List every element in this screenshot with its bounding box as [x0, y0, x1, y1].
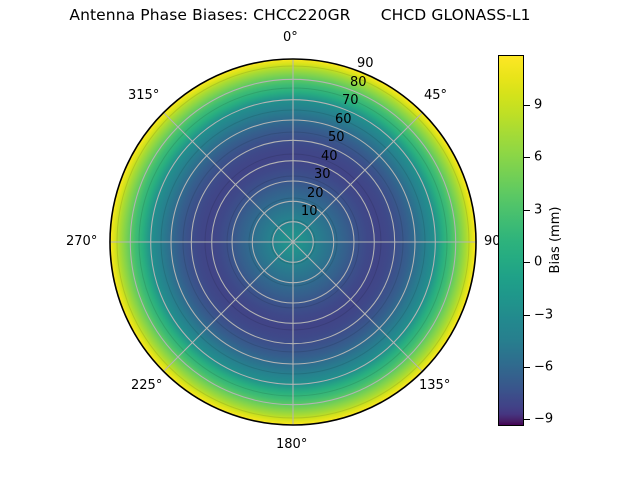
radial-label-80: 80	[350, 75, 367, 90]
radial-label-90: 90	[357, 56, 374, 71]
colorbar-axis-label: Bias (mm)	[548, 207, 563, 274]
angle-label-135: 135°	[419, 378, 450, 393]
colorbar-ticklabel-3: 3	[534, 203, 542, 218]
colorbar-tick-6	[524, 157, 530, 158]
colorbar-gradient	[498, 55, 524, 426]
figure-canvas: Antenna Phase Biases: CHCC220GR CHCD GLO…	[0, 0, 640, 480]
angle-label-45: 45°	[424, 88, 447, 103]
angle-label-315: 315°	[128, 88, 159, 103]
radial-label-10: 10	[301, 204, 318, 219]
colorbar-tick-m9	[524, 419, 530, 420]
colorbar-ticklabel-0: 0	[534, 255, 542, 270]
polar-axes[interactable]	[109, 58, 477, 426]
angle-label-270: 270°	[66, 234, 97, 249]
polar-grid-spokes	[110, 59, 476, 425]
colorbar-ticklabel-6: 6	[534, 150, 542, 165]
colorbar-tick-3	[524, 210, 530, 211]
angle-label-180: 180°	[276, 437, 307, 452]
radial-label-50: 50	[328, 130, 345, 145]
radial-label-70: 70	[342, 93, 359, 108]
colorbar-ticklabel-9: 9	[534, 98, 542, 113]
radial-label-30: 30	[314, 167, 331, 182]
angle-label-0: 0°	[283, 30, 298, 45]
colorbar-tick-9	[524, 105, 530, 106]
polar-plot-svg	[109, 58, 477, 426]
page-title: Antenna Phase Biases: CHCC220GR CHCD GLO…	[0, 6, 600, 24]
colorbar-tick-m3	[524, 315, 530, 316]
radial-label-60: 60	[335, 112, 352, 127]
angle-label-225: 225°	[131, 378, 162, 393]
colorbar[interactable]: 9 6 3 0 −3 −6 −9	[498, 55, 524, 426]
colorbar-tick-m6	[524, 367, 530, 368]
colorbar-ticklabel-m3: −3	[534, 308, 553, 323]
radial-label-20: 20	[307, 186, 324, 201]
colorbar-ticklabel-m6: −6	[534, 360, 553, 375]
radial-label-40: 40	[321, 149, 338, 164]
colorbar-tick-0	[524, 262, 530, 263]
colorbar-ticklabel-m9: −9	[534, 411, 553, 426]
